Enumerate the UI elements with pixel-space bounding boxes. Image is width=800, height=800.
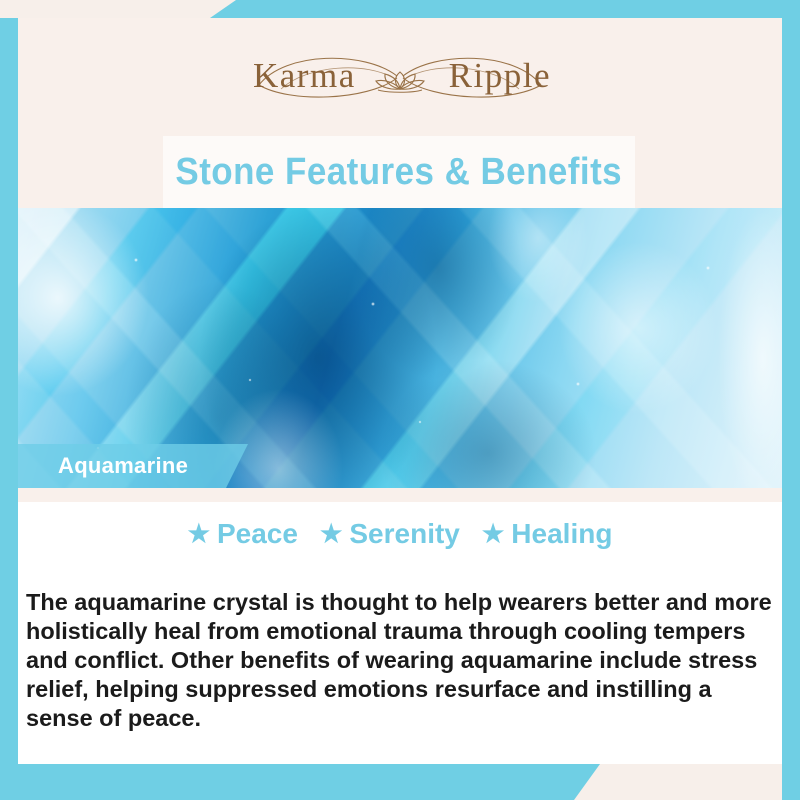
title-band: Stone Features & Benefits xyxy=(163,136,635,208)
page-title: Stone Features & Benefits xyxy=(176,151,623,194)
star-icon: ★ xyxy=(482,522,504,547)
accent-bar-top xyxy=(210,0,800,18)
keyword-item-peace: ★ Peace xyxy=(188,518,298,550)
keyword-label: Healing xyxy=(511,518,612,550)
header-filler-right xyxy=(635,136,782,208)
star-icon: ★ xyxy=(320,522,342,547)
keyword-label: Serenity xyxy=(349,518,460,550)
accent-bar-right xyxy=(782,0,800,800)
keyword-item-healing: ★ Healing xyxy=(482,518,613,550)
keyword-label: Peace xyxy=(217,518,298,550)
stone-name-label: Aquamarine xyxy=(58,453,188,479)
keyword-item-serenity: ★ Serenity xyxy=(320,518,460,550)
stone-name-ribbon: Aquamarine xyxy=(18,444,248,488)
crystal-photo: Aquamarine xyxy=(18,208,782,488)
lotus-petals xyxy=(376,72,424,92)
brand-header: Karma Ripple xyxy=(18,18,782,136)
content-card: Karma Ripple Stone Features & Benefits A… xyxy=(18,18,782,764)
accent-bar-left xyxy=(0,18,18,800)
star-icon: ★ xyxy=(188,522,210,547)
poster-root: Karma Ripple Stone Features & Benefits A… xyxy=(0,0,800,800)
header-filler-left xyxy=(18,136,163,208)
photo-separator xyxy=(18,488,782,502)
logo-text-ripple: Ripple xyxy=(449,53,551,99)
brand-logo: Karma Ripple xyxy=(245,45,555,109)
accent-bar-bottom xyxy=(0,764,600,800)
logo-text-karma: Karma xyxy=(253,53,356,99)
keyword-list: ★ Peace ★ Serenity ★ Healing xyxy=(18,510,782,558)
description-paragraph: The aquamarine crystal is thought to hel… xyxy=(26,588,778,733)
